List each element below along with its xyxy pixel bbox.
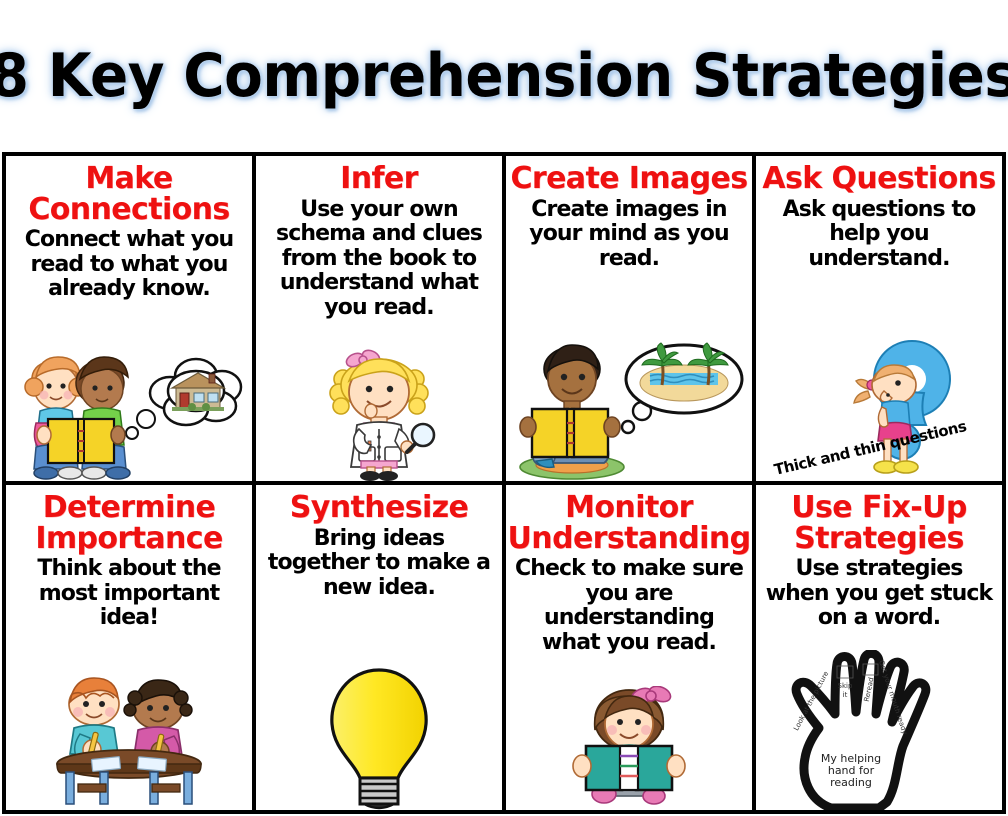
poster: 8 Key Comprehension Strategies Make Conn… [0,0,1008,816]
strategy-card-ask-questions[interactable]: Ask Questions Ask questions to help you … [756,156,1006,485]
card-heading: Infer [340,164,418,195]
strategy-card-use-fix-up-strategies[interactable]: Use Fix-Up Strategies Use strategies whe… [756,485,1006,814]
svg-text:Skip: Skip [838,682,853,690]
card-body: Check to make sure you are understanding… [510,557,748,656]
strategy-card-monitor-understanding[interactable]: Monitor Understanding Check to make sure… [506,485,756,814]
card-heading: Determine Importance [10,493,248,554]
yellow-lightbulb-illustration [260,600,498,810]
card-heading: Create Images [510,164,747,195]
card-heading: Synthesize [290,493,469,524]
girl-with-blue-question-mark-illustration: Thick and thin questions [760,271,998,481]
strategy-card-create-images[interactable]: Create Images Create images in your mind… [506,156,756,485]
card-body: Connect what you read to what you alread… [10,228,248,302]
card-body: Create images in your mind as you read. [510,198,748,272]
girl-detective-with-magnifying-glass-illustration [260,321,498,481]
two-kids-writing-at-desk-illustration [10,631,248,810]
strategy-card-synthesize[interactable]: Synthesize Bring ideas together to make … [256,485,506,814]
boy-reading-with-beach-thought-bubble-illustration [510,271,748,481]
svg-text:reading: reading [830,776,872,789]
card-heading: Monitor Understanding [508,493,751,554]
strategy-card-infer[interactable]: Infer Use your own schema and clues from… [256,156,506,485]
page-title: 8 Key Comprehension Strategies [0,41,1008,111]
card-body: Use your own schema and clues from the b… [260,198,498,321]
card-body: Bring ideas together to make a new idea. [260,527,498,601]
card-body: Use strategies when you get stuck on a w… [760,557,998,631]
card-body: Ask questions to help you understand. [760,198,998,272]
strategy-card-make-connections[interactable]: Make Connections Connect what you read t… [6,156,256,485]
card-heading: Ask Questions [762,164,995,195]
strategy-grid: Make Connections Connect what you read t… [2,152,1006,814]
title-bar: 8 Key Comprehension Strategies [0,0,1008,152]
helping-hand-outline-illustration: My helping hand for reading Skip it Rere… [760,631,998,810]
card-body: Think about the most important idea! [10,557,248,631]
two-kids-reading-book-with-house-thought-bubble-illustration [10,302,248,481]
strategy-card-determine-importance[interactable]: Determine Importance Think about the mos… [6,485,256,814]
girl-reading-teal-book-illustration [510,656,748,810]
card-heading: Make Connections [10,164,248,225]
svg-text:it: it [843,691,848,699]
card-heading: Use Fix-Up Strategies [760,493,998,554]
